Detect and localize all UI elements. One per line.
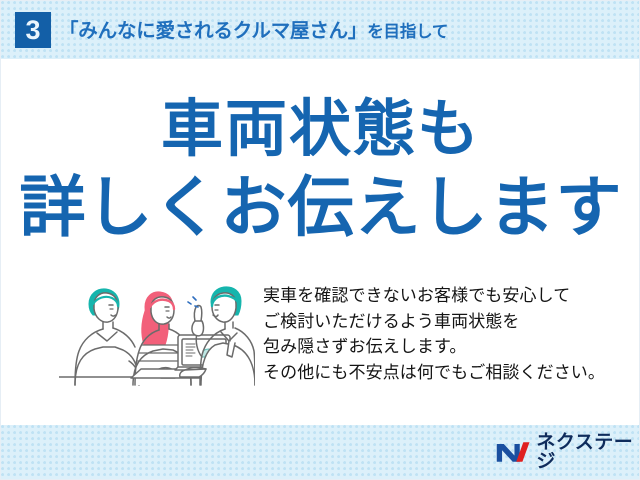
customer-man-figure — [75, 289, 141, 385]
body-copy-line-1: 実車を確認できないお客様でも安心して — [263, 283, 623, 309]
body-copy-line-4: その他にも不安点は何でもご相談ください。 — [263, 360, 623, 386]
body-copy-line-3: 包み隠さずお伝えします。 — [263, 334, 623, 360]
body-copy-line-2: ご検討いただけるよう車両状態を — [263, 309, 623, 335]
header-title: 「みんなに愛されるクルマ屋さん」を目指して — [59, 17, 448, 45]
step-number-badge: 3 — [15, 12, 51, 48]
nextage-n-mark-icon — [495, 439, 530, 465]
brand-name: ネクステージ — [536, 433, 639, 471]
header-title-quoted: 「みんなに愛されるクルマ屋さん」 — [59, 20, 367, 42]
body-copy: 実車を確認できないお客様でも安心して ご検討いただけるよう車両状態を 包み隠さず… — [263, 283, 623, 385]
page-title: 車両状態も 詳しくお伝えします — [1, 99, 640, 240]
brand-logo: ネクステージ — [495, 437, 639, 467]
consultation-illustration-svg — [59, 277, 255, 389]
consultation-illustration — [59, 277, 255, 389]
promotional-banner: 3 「みんなに愛されるクルマ屋さん」を目指して 車両状態も 詳しくお伝えします — [0, 0, 640, 480]
headline-line-2: 詳しくお伝えします — [1, 174, 640, 240]
header-title-suffix: を目指して — [367, 23, 448, 41]
headline-line-1: 車両状態も — [1, 99, 640, 161]
